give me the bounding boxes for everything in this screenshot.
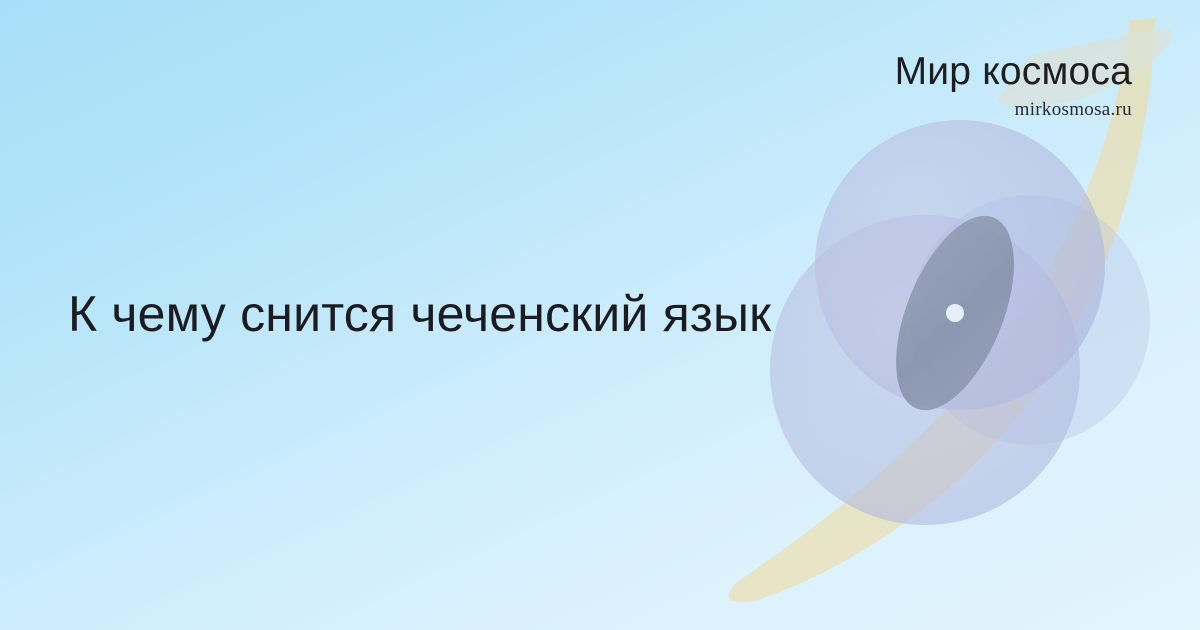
brand-name: Мир космоса <box>895 52 1132 91</box>
lower-disc <box>770 215 1080 525</box>
brand-block: Мир космоса mirkosmosa.ru <box>895 52 1132 119</box>
share-card: Мир космоса mirkosmosa.ru К чему снится … <box>0 0 1200 630</box>
upper-disc <box>815 120 1105 410</box>
brand-url: mirkosmosa.ru <box>895 100 1132 119</box>
central-ellipse <box>872 200 1038 427</box>
right-lens <box>910 195 1150 445</box>
page-title: К чему снится чеченский язык <box>68 286 771 342</box>
center-dot <box>946 304 964 322</box>
